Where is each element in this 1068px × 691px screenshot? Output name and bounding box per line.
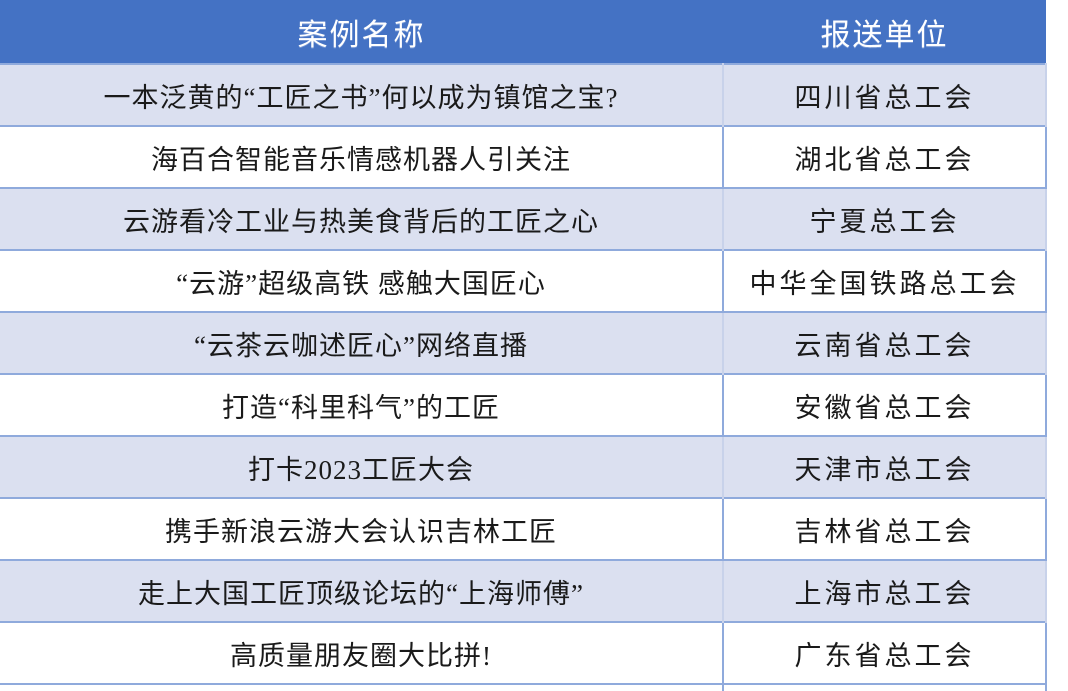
cell-case-name: 走上大国工匠顶级论坛的“上海师傅” [0,560,723,622]
cell-submitting-unit: 宁夏总工会 [723,188,1046,250]
cell-submitting-unit: 上海市总工会 [723,560,1046,622]
case-name-text: 高质量朋友圈大比拼! [230,634,492,673]
submitting-unit-text: 云南省总工会 [795,324,975,363]
table-header-row: 案例名称 报送单位 [0,0,1046,64]
column-header-case-name: 案例名称 [0,0,723,64]
table-row: “云游”超级高铁 感触大国匠心 中华全国铁路总工会 [0,250,1046,312]
case-name-text: 携手新浪云游大会认识吉林工匠 [165,510,557,549]
submitting-unit-text: 上海市总工会 [795,572,975,611]
table-row: 高质量朋友圈大比拼! 广东省总工会 [0,622,1046,684]
cell-case-name: 高质量朋友圈大比拼! [0,622,723,684]
submitting-unit-text: 吉林省总工会 [795,510,975,549]
cell-submitting-unit: 云南省总工会 [723,312,1046,374]
cell-submitting-unit: 湖北省总工会 [723,126,1046,188]
cell-case-name: 打造“科里科气”的工匠 [0,374,723,436]
submitting-unit-text: 广东省总工会 [795,634,975,673]
cell-case-name: 打卡2023工匠大会 [0,436,723,498]
case-name-text: “云游”超级高铁 感触大国匠心 [176,262,546,301]
case-name-text: 打卡2023工匠大会 [248,448,474,487]
cell-submitting-unit: 中华全国铁路总工会 [723,250,1046,312]
cell-case-name: “云茶云咖述匠心”网络直播 [0,312,723,374]
table-header: 案例名称 报送单位 [0,0,1046,64]
case-name-text: 云游看冷工业与热美食背后的工匠之心 [123,200,599,239]
case-name-text: 一本泛黄的“工匠之书”何以成为镇馆之宝? [104,76,619,115]
submitting-unit-text: 湖北省总工会 [795,138,975,177]
case-table-container: 案例名称 报送单位 一本泛黄的“工匠之书”何以成为镇馆之宝? 四川省总工会 海百… [0,0,1046,691]
cell-submitting-unit: 天津市总工会 [723,436,1046,498]
case-name-text: 走上大国工匠顶级论坛的“上海师傅” [138,572,584,611]
cell-case-name: 携手新浪云游大会认识吉林工匠 [0,498,723,560]
table-row: 云游看冷工业与热美食背后的工匠之心 宁夏总工会 [0,188,1046,250]
cell-submitting-unit: 四川省总工会 [723,64,1046,126]
submitting-unit-text: 四川省总工会 [795,76,975,115]
table-row: 海百合智能音乐情感机器人引关注 湖北省总工会 [0,126,1046,188]
table-row: 携手新浪云游大会认识吉林工匠 吉林省总工会 [0,498,1046,560]
table-body: 一本泛黄的“工匠之书”何以成为镇馆之宝? 四川省总工会 海百合智能音乐情感机器人… [0,64,1046,691]
cell-submitting-unit: 吉林省总工会 [723,498,1046,560]
case-name-text: 海百合智能音乐情感机器人引关注 [151,138,571,177]
table-row: 打卡2023工匠大会 天津市总工会 [0,436,1046,498]
submitting-unit-text: 宁夏总工会 [810,200,960,239]
case-table: 案例名称 报送单位 一本泛黄的“工匠之书”何以成为镇馆之宝? 四川省总工会 海百… [0,0,1047,691]
column-header-submitting-unit: 报送单位 [723,0,1046,64]
table-row: 打造“科里科气”的工匠 安徽省总工会 [0,374,1046,436]
cell-case-name: 海百合智能音乐情感机器人引关注 [0,126,723,188]
submitting-unit-text: 安徽省总工会 [795,386,975,425]
case-name-text: “云茶云咖述匠心”网络直播 [194,324,528,363]
cell-case-name: 云游看冷工业与热美食背后的工匠之心 [0,188,723,250]
cell-submitting-unit: 安徽省总工会 [723,374,1046,436]
case-name-text: 打造“科里科气”的工匠 [222,386,500,425]
cell-submitting-unit: 广东省总工会 [723,622,1046,684]
table-row: 一本泛黄的“工匠之书”何以成为镇馆之宝? 四川省总工会 [0,64,1046,126]
submitting-unit-text: 中华全国铁路总工会 [750,262,1020,301]
table-row: “云茶云咖述匠心”网络直播 云南省总工会 [0,312,1046,374]
submitting-unit-text: 天津市总工会 [795,448,975,487]
cell-case-name: “云游”超级高铁 感触大国匠心 [0,250,723,312]
cell-case-name: 一本泛黄的“工匠之书”何以成为镇馆之宝? [0,64,723,126]
table-row: 走上大国工匠顶级论坛的“上海师傅” 上海市总工会 [0,560,1046,622]
